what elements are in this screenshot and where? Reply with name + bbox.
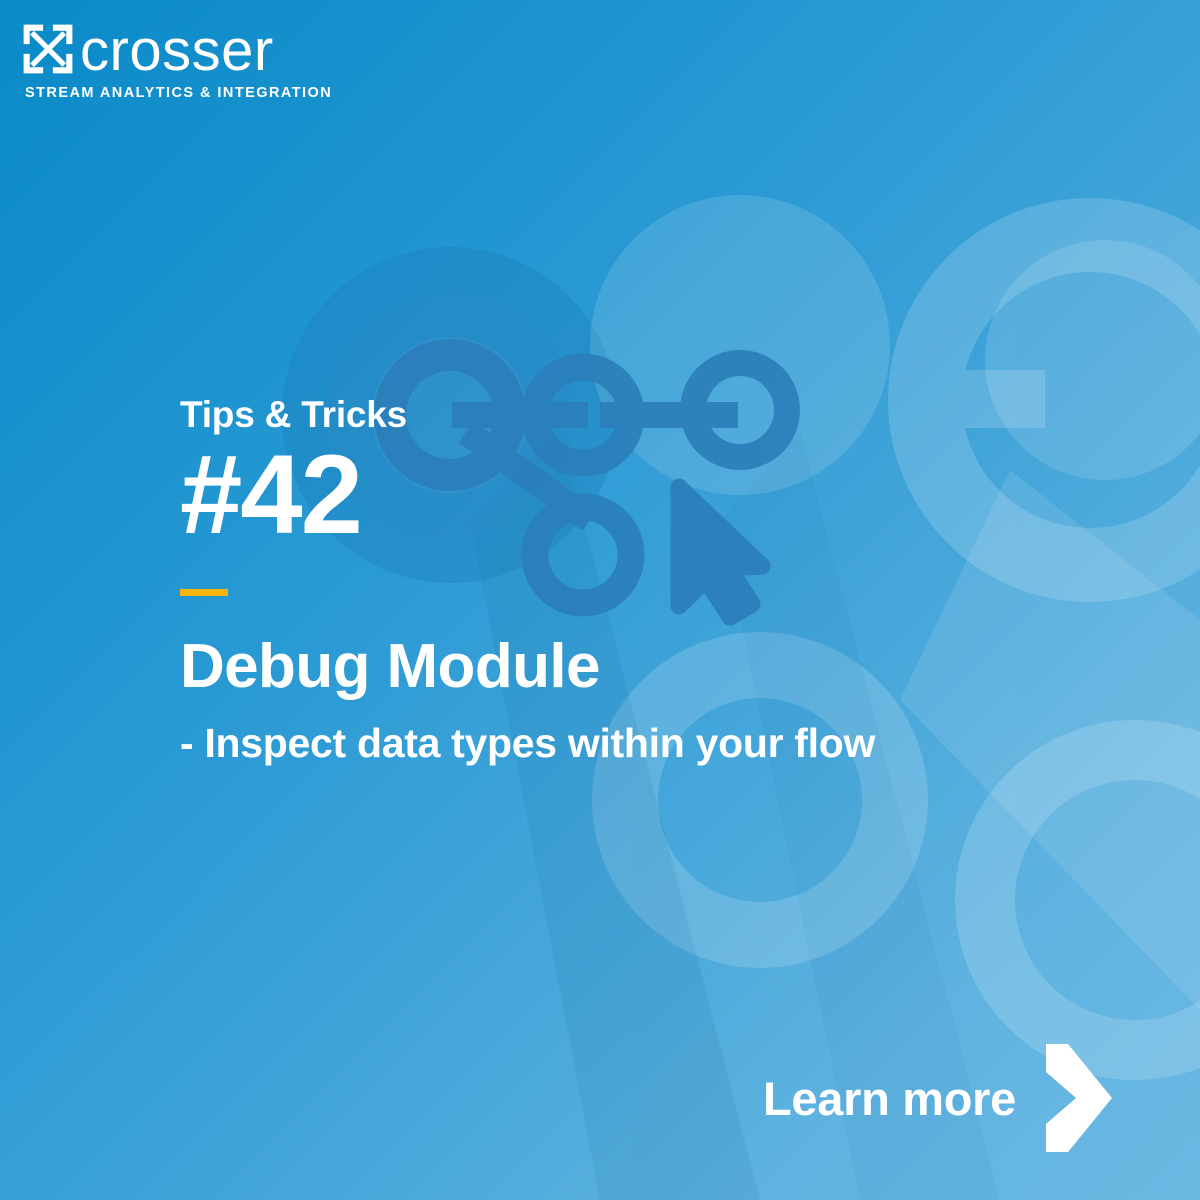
issue-number: #42 <box>180 439 1080 551</box>
page-subtitle: - Inspect data types within your flow <box>180 721 1080 766</box>
four-way-arrow-x-icon <box>22 23 74 75</box>
social-card: crosser STREAM ANALYTICS & INTEGRATION T… <box>0 0 1200 1200</box>
page-title: Debug Module <box>180 634 1080 699</box>
brand-name: crosser <box>80 22 274 80</box>
brand-tagline: STREAM ANALYTICS & INTEGRATION <box>25 85 332 101</box>
brand-logo[interactable]: crosser STREAM ANALYTICS & INTEGRATION <box>22 20 332 101</box>
accent-divider <box>180 589 228 596</box>
eyebrow-label: Tips & Tricks <box>180 396 1080 435</box>
copy-block: Tips & Tricks #42 Debug Module - Inspect… <box>180 396 1080 766</box>
learn-more-label: Learn more <box>763 1075 1016 1122</box>
learn-more-cta[interactable]: Learn more <box>763 1044 1116 1152</box>
chevron-right-icon <box>1038 1044 1116 1152</box>
